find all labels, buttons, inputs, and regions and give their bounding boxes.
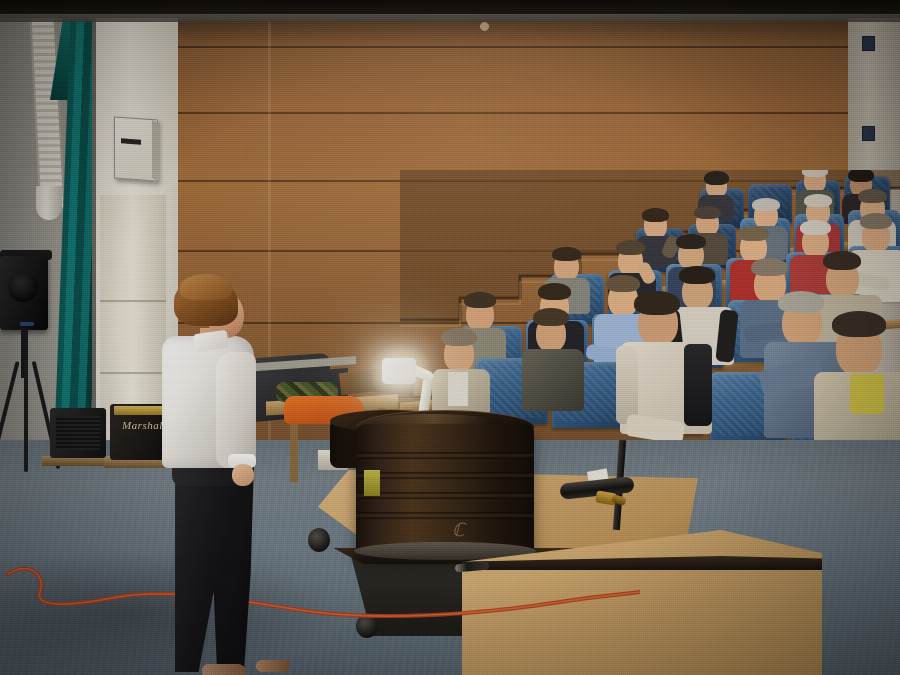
lecturer-foot [202,664,246,675]
drum-stencil-mark: ℂ [452,520,478,540]
steel-drum [356,424,534,556]
control-box-side [152,120,160,181]
ceiling-beam [0,14,900,22]
speaker-badge [20,322,34,326]
drum-rib [356,492,534,499]
lecturer-foot [256,660,290,672]
duct-elbow [36,186,62,220]
tripod-leg [24,360,28,472]
speaker-cone-icon [8,272,38,302]
lecturer [160,278,290,675]
wall-plate-icon [862,126,875,141]
extension-cable [0,540,640,630]
drum-warning-label [364,470,380,496]
drum-rib [356,452,534,459]
drum-rib [356,472,534,479]
projector-lamp-head [382,358,416,384]
wall-plate-icon [862,36,875,51]
amplifier-brand-label: Marshall [122,420,162,432]
lecture-hall-photo: Marshall ℂ [0,0,900,675]
lecturer-hand [232,464,254,486]
lecturer-trousers [170,460,254,672]
amplifier-grille [56,416,100,450]
lecturer-arm [216,352,256,468]
drum-rib [356,512,534,519]
lecturer-hair-top [180,274,232,300]
wall-fixture-icon [480,22,489,31]
